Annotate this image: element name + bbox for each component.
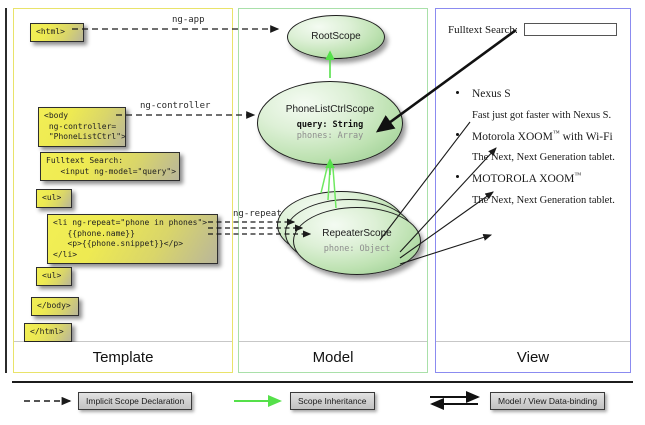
legend-scope-inheritance: Scope Inheritance <box>232 388 375 414</box>
repeater-scope-title: RepeaterScope <box>322 228 392 239</box>
list-item[interactable]: Motorola XOOM™ with Wi-Fi The Next, Next… <box>456 129 622 166</box>
li-ngrepeat-box: <li ng-repeat="phone in phones"> {{phone… <box>47 214 218 264</box>
phone-name-text: Motorola XOOM <box>472 131 553 143</box>
view-phone-list: Nexus S Fast just got faster with Nexus … <box>456 87 622 214</box>
view-search-input[interactable] <box>524 23 617 36</box>
panel-template-label: Template <box>14 341 232 372</box>
phone-name: MOTOROLA XOOM™ <box>472 171 622 187</box>
phone-name: Nexus S <box>472 87 622 103</box>
fulltext-search-input-box: Fulltext Search: <input ng-model="query"… <box>40 152 180 181</box>
bullet-icon <box>456 91 459 94</box>
label-ng-app: ng-app <box>172 15 205 25</box>
label-ng-repeat: ng-repeat <box>233 209 282 219</box>
phone-name: Motorola XOOM™ with Wi-Fi <box>472 129 622 145</box>
legend-model-view-data-binding: Model / View Data-binding <box>428 388 605 414</box>
ul-close-box: <ul> <box>36 267 72 286</box>
legend-implicit-scope-declaration: Implicit Scope Declaration <box>22 388 192 414</box>
html-close-box: </html> <box>24 323 72 342</box>
bullet-icon <box>456 133 459 136</box>
label-ng-controller: ng-controller <box>140 101 210 111</box>
legend-dashed-arrow-icon <box>22 391 78 411</box>
repeater-scope: RepeaterScope phone: Object <box>293 207 421 275</box>
phone-snippet: The Next, Next Generation tablet. <box>472 151 622 165</box>
view-search-label: Fulltext Search: <box>448 24 518 36</box>
repeater-scope-props: phone: Object <box>324 244 391 255</box>
phonelistctrl-scope-props: query: String phones: Array <box>297 120 364 141</box>
phonelistctrl-scope-title: PhoneListCtrlScope <box>286 104 374 115</box>
panel-view-body: Fulltext Search: Nexus S Fast just got f… <box>436 9 630 342</box>
left-edge-rule <box>5 8 7 373</box>
panel-model-label: Model <box>239 341 427 372</box>
phone-snippet: Fast just got faster with Nexus S. <box>472 109 622 123</box>
panel-model-body: RootScope PhoneListCtrlScope query: Stri… <box>239 9 427 342</box>
html-open-box: <html> <box>30 23 84 42</box>
trademark-icon: ™ <box>553 129 560 137</box>
legend-implicit-scope-declaration-label: Implicit Scope Declaration <box>78 392 192 410</box>
rendered-view: Fulltext Search: Nexus S Fast just got f… <box>436 9 630 342</box>
body-controller-box: <body ng-controller= "PhoneListCtrl"> <box>38 107 126 147</box>
prop-phones: phones: Array <box>297 131 364 142</box>
legend-green-arrow-icon <box>232 391 290 411</box>
legend-double-arrow-icon <box>428 390 490 412</box>
phone-name-suffix: with Wi-Fi <box>560 131 613 143</box>
phonelistctrl-scope: PhoneListCtrlScope query: String phones:… <box>257 81 403 165</box>
list-item[interactable]: Nexus S Fast just got faster with Nexus … <box>456 87 622 123</box>
body-close-box: </body> <box>31 297 79 316</box>
root-scope-title: RootScope <box>311 31 360 42</box>
prop-query: query: String <box>297 120 364 131</box>
panel-template: <html> <body ng-controller= "PhoneListCt… <box>13 8 233 373</box>
prop-phone: phone: Object <box>324 244 391 255</box>
trademark-icon: ™ <box>574 171 581 179</box>
panel-template-body: <html> <body ng-controller= "PhoneListCt… <box>14 9 232 342</box>
phone-snippet: The Next, Next Generation tablet. <box>472 194 622 208</box>
list-item[interactable]: MOTOROLA XOOM™ The Next, Next Generation… <box>456 171 622 208</box>
view-search-row: Fulltext Search: <box>448 23 617 36</box>
legend: Implicit Scope Declaration Scope Inherit… <box>0 388 645 414</box>
panel-view: Fulltext Search: Nexus S Fast just got f… <box>435 8 631 373</box>
legend-divider <box>12 381 633 383</box>
phone-name-text: MOTOROLA XOOM <box>472 173 574 185</box>
diagram-canvas: <html> <body ng-controller= "PhoneListCt… <box>0 0 645 425</box>
panel-model: RootScope PhoneListCtrlScope query: Stri… <box>238 8 428 373</box>
root-scope: RootScope <box>287 15 385 59</box>
legend-model-view-data-binding-label: Model / View Data-binding <box>490 392 605 410</box>
panel-view-label: View <box>436 341 630 372</box>
ul-open-box: <ul> <box>36 189 72 208</box>
legend-scope-inheritance-label: Scope Inheritance <box>290 392 375 410</box>
bullet-icon <box>456 175 459 178</box>
